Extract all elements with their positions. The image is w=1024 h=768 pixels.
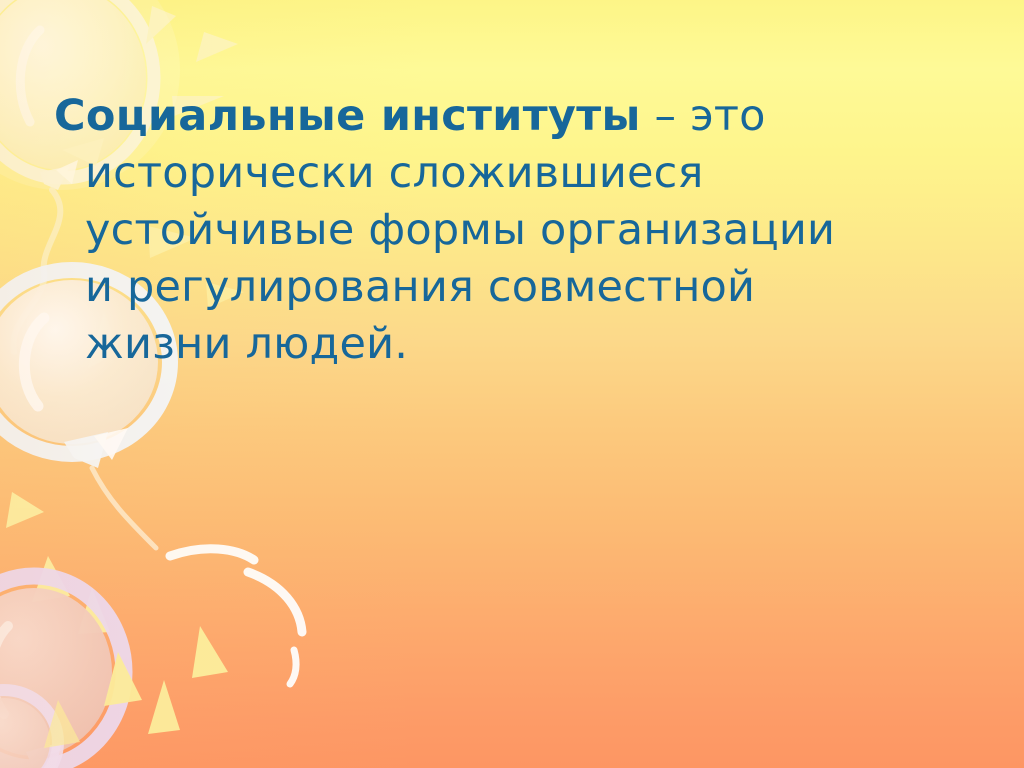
definition-line-3: устойчивые формы организации (50, 202, 980, 259)
definition-line-4: и регулирования совместной (50, 259, 980, 316)
definition-line-2: исторически сложившиеся (50, 145, 980, 202)
definition-separator: – это (641, 91, 766, 141)
slide-body-text: Социальные институты – это исторически с… (50, 88, 980, 373)
definition-line-5: жизни людей. (50, 316, 980, 373)
presentation-slide: Социальные институты – это исторически с… (0, 0, 1024, 768)
definition-term: Социальные институты (54, 91, 641, 141)
definition-line-1: Социальные институты – это (50, 88, 980, 145)
ribbon-arc-bottom (170, 549, 302, 684)
